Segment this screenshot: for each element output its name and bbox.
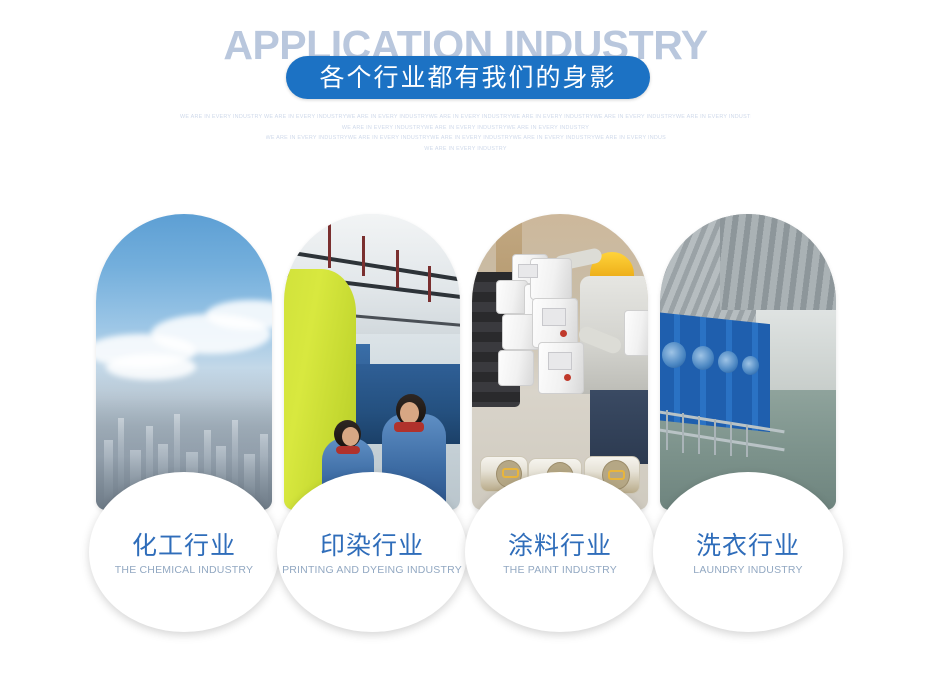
label-english: PRINTING AND DYEING INDUSTRY — [277, 564, 467, 576]
industry-card-chemical[interactable] — [96, 214, 272, 510]
label-chinese: 化工行业 — [89, 526, 279, 562]
application-industry-banner: APPLICATION INDUSTRY 各个行业都有我们的身影 WE ARE … — [0, 0, 931, 676]
chemical-plant-photo — [96, 214, 272, 510]
banner-header: APPLICATION INDUSTRY 各个行业都有我们的身影 WE ARE … — [0, 0, 931, 170]
industry-card-paint[interactable] — [472, 214, 648, 510]
industry-card-printing-dyeing[interactable] — [284, 214, 460, 510]
laundry-machines-photo — [660, 214, 836, 510]
industry-card-grid: 化工行业 THE CHEMICAL INDUSTRY 印染行业 PRINTING… — [96, 214, 836, 644]
paint-buckets-photo — [472, 214, 648, 510]
label-english: LAUNDRY INDUSTRY — [653, 564, 843, 576]
watermark-line-3: WE ARE IN EVERY INDUSTRYWE ARE IN EVERY … — [266, 133, 666, 144]
industry-label-printing-dyeing[interactable]: 印染行业 PRINTING AND DYEING INDUSTRY — [277, 472, 453, 632]
headline-pill: 各个行业都有我们的身影 — [286, 56, 650, 99]
industry-label-paint[interactable]: 涂料行业 THE PAINT INDUSTRY — [465, 472, 641, 632]
label-chinese: 洗衣行业 — [653, 526, 843, 562]
industry-label-chemical[interactable]: 化工行业 THE CHEMICAL INDUSTRY — [89, 472, 265, 632]
watermark-paragraph: WE ARE IN EVERY INDUSTRY WE ARE IN EVERY… — [180, 112, 751, 154]
industry-card-laundry[interactable] — [660, 214, 836, 510]
label-english: THE CHEMICAL INDUSTRY — [89, 564, 279, 576]
industry-label-laundry[interactable]: 洗衣行业 LAUNDRY INDUSTRY — [653, 472, 829, 632]
label-english: THE PAINT INDUSTRY — [465, 564, 655, 576]
label-chinese: 涂料行业 — [465, 526, 655, 562]
watermark-line-2: WE ARE IN EVERY INDUSTRYWE ARE IN EVERY … — [321, 123, 611, 134]
label-chinese: 印染行业 — [277, 526, 467, 562]
watermark-line-1: WE ARE IN EVERY INDUSTRY WE ARE IN EVERY… — [180, 112, 751, 123]
watermark-line-4: WE ARE IN EVERY INDUSTRY — [411, 144, 521, 155]
headline-pill-label: 各个行业都有我们的身影 — [286, 56, 650, 99]
printing-dyeing-photo — [284, 214, 460, 510]
